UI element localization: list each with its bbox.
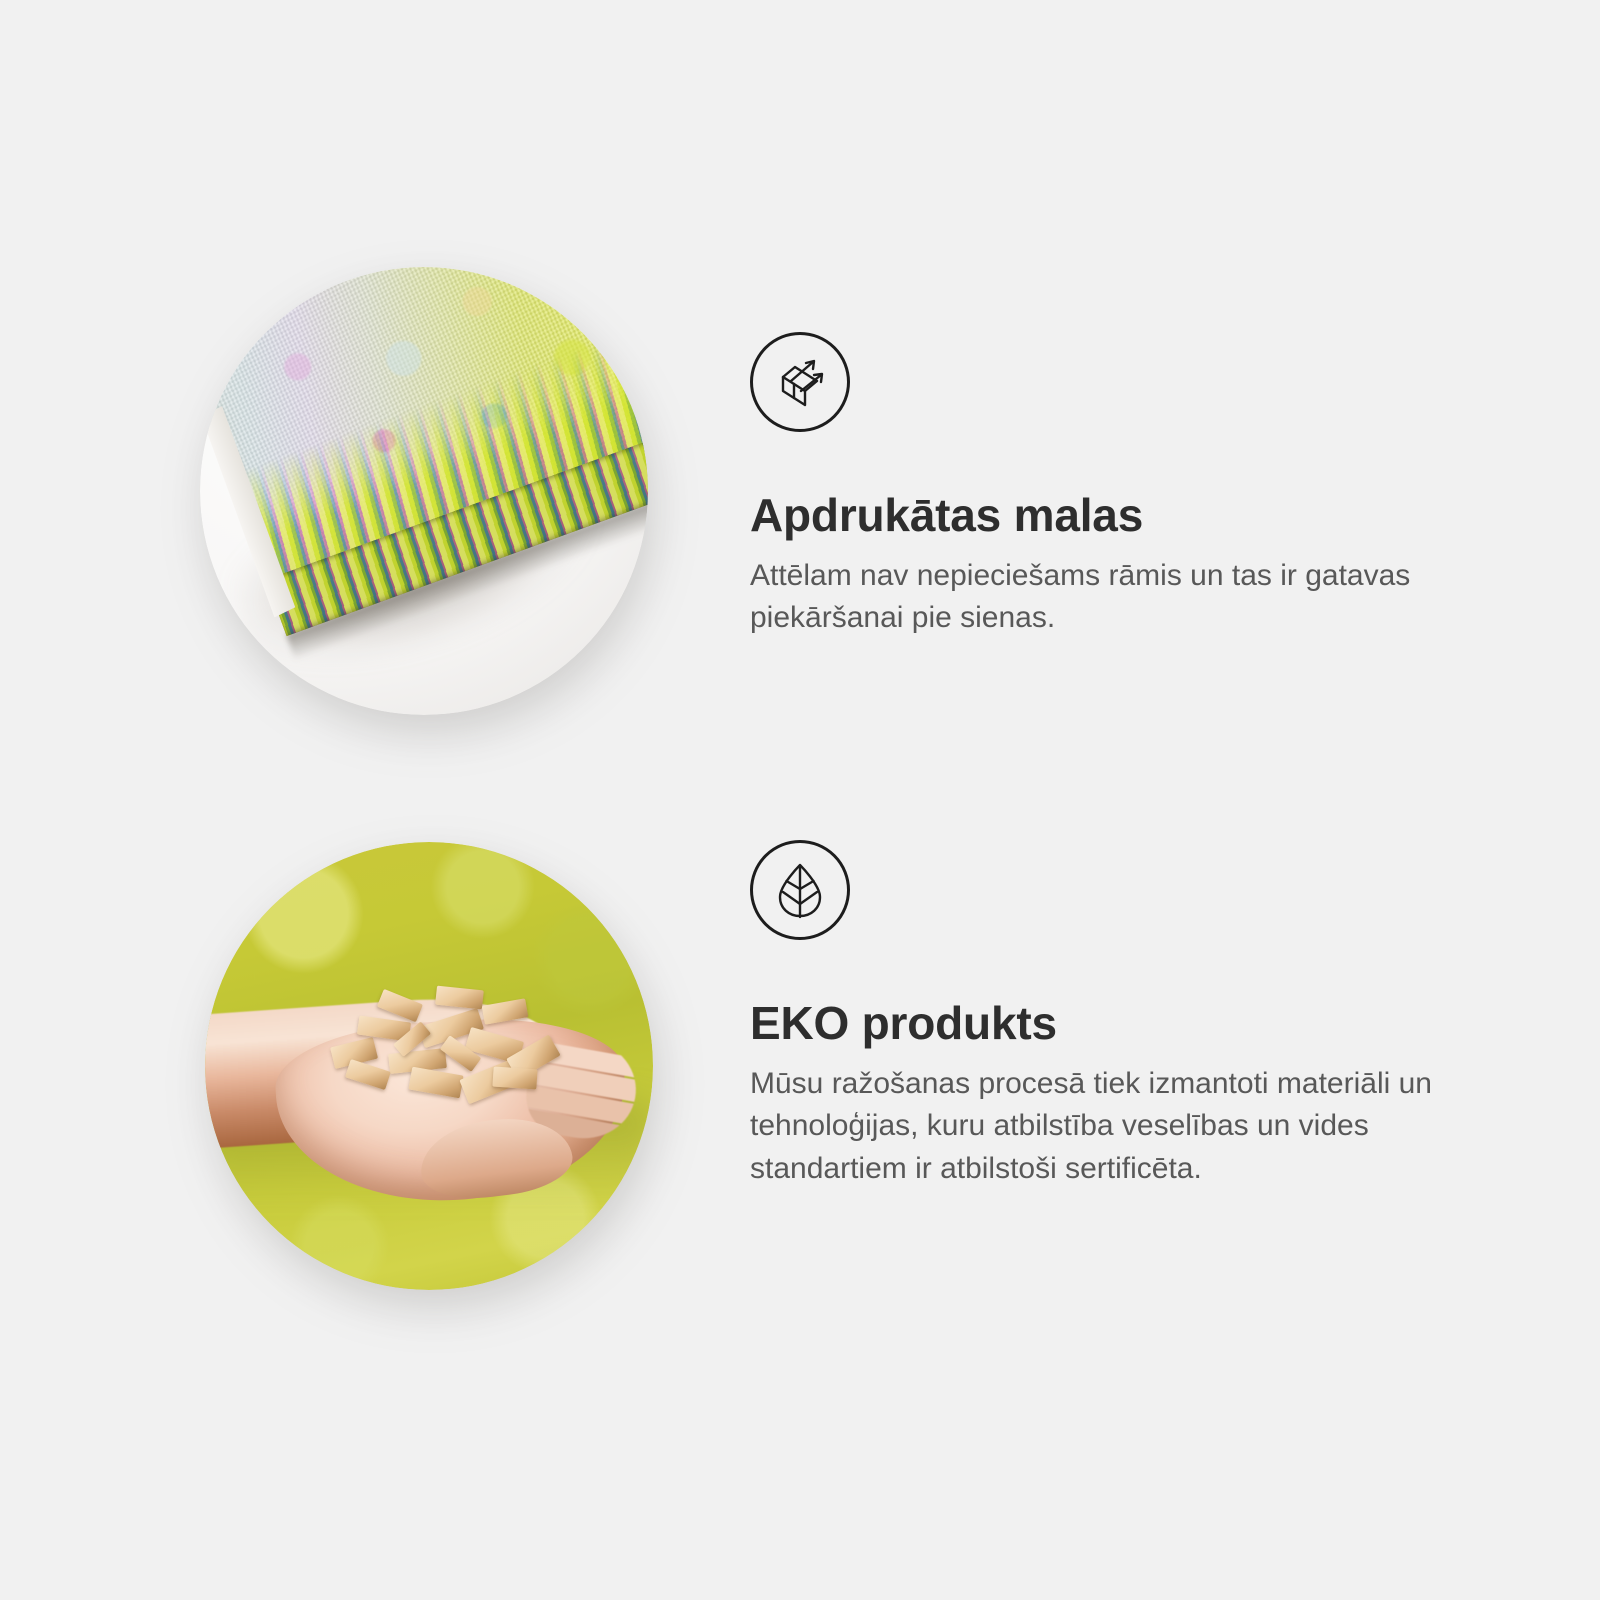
- feature-description: Attēlam nav nepieciešams rāmis un tas ir…: [750, 555, 1470, 640]
- feature-title: EKO produkts: [750, 998, 1600, 1049]
- feature-title: Apdrukātas malas: [750, 490, 1600, 541]
- text-printed-edges: Apdrukātas malas Attēlam nav nepieciešam…: [740, 250, 1600, 640]
- canvas-corner-photo: [200, 267, 648, 715]
- feature-block-printed-edges: Apdrukātas malas Attēlam nav nepieciešam…: [0, 250, 1600, 770]
- features-page: Apdrukātas malas Attēlam nav nepieciešam…: [0, 0, 1600, 1600]
- text-eko-product: EKO produkts Mūsu ražošanas procesā tiek…: [740, 830, 1600, 1190]
- media-printed-edges: [0, 250, 740, 770]
- leaf-icon-glyph: [771, 859, 829, 921]
- feature-block-eko-product: EKO produkts Mūsu ražošanas procesā tiek…: [0, 830, 1600, 1370]
- printed-edges-icon: [750, 332, 850, 432]
- canvas-corner-photo-inner: [200, 267, 648, 715]
- wood-chips-pile: [321, 976, 581, 1119]
- media-eko-product: [0, 830, 740, 1350]
- hands-wood-chips-photo: [205, 842, 653, 1290]
- leaf-icon: [750, 840, 850, 940]
- feature-description: Mūsu ražošanas procesā tiek izmantoti ma…: [750, 1063, 1470, 1191]
- printed-edges-icon-glyph: [769, 351, 831, 413]
- hands-wood-chips-photo-inner: [205, 842, 653, 1290]
